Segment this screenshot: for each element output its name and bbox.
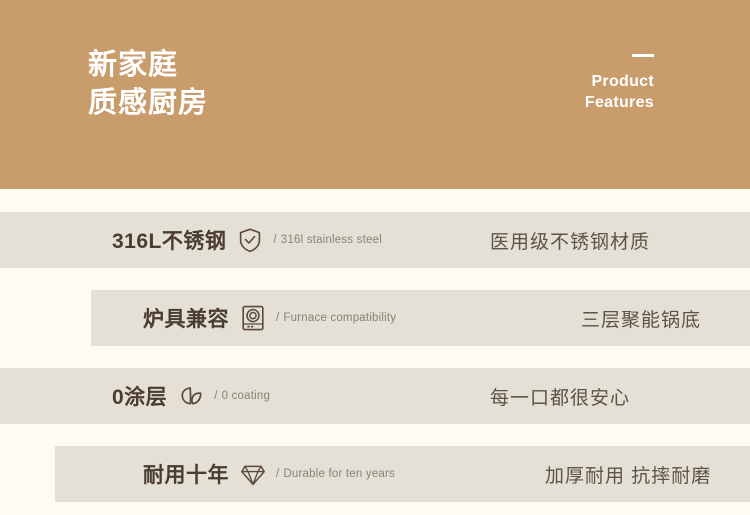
feature-title: 耐用十年 — [143, 459, 229, 489]
feature-separator: / — [276, 468, 279, 480]
feature-description: 加厚耐用 抗摔耐磨 — [545, 446, 711, 502]
feature-label-group: 0涂层 /0 coating — [112, 368, 270, 424]
feature-row: 316L不锈钢 /316l stainless steel 医用级不锈钢材质 — [0, 212, 750, 268]
feature-separator: / — [273, 234, 276, 246]
hero-eyebrow-line-1: Product — [534, 71, 654, 92]
feature-row: 耐用十年 /Durable for ten years 加厚耐用 抗摔耐磨 — [55, 446, 750, 502]
diamond-icon — [238, 459, 268, 489]
feature-label-group: 耐用十年 /Durable for ten years — [143, 446, 395, 502]
feature-description: 医用级不锈钢材质 — [490, 212, 650, 268]
feature-english-text: Durable for ten years — [283, 468, 395, 480]
feature-english-label: /Durable for ten years — [276, 468, 395, 480]
feature-english-label: /0 coating — [214, 390, 270, 402]
feature-row: 0涂层 /0 coating 每一口都很安心 — [0, 368, 750, 424]
hero-eyebrow: Product Features — [534, 54, 654, 113]
feature-english-label: /316l stainless steel — [273, 234, 382, 246]
divider-dash-icon — [632, 54, 654, 57]
feature-english-label: /Furnace compatibility — [276, 312, 396, 324]
feature-title: 316L不锈钢 — [112, 225, 226, 255]
product-features-page: 新家庭 质感厨房 Product Features 316L不锈钢 /316l … — [0, 0, 750, 515]
shield-check-icon — [235, 225, 265, 255]
hero-eyebrow-line-2: Features — [534, 92, 654, 113]
feature-label-group: 炉具兼容 /Furnace compatibility — [143, 290, 396, 346]
feature-separator: / — [214, 390, 217, 402]
hero-title-line-2: 质感厨房 — [88, 84, 208, 122]
leaf-icon — [176, 381, 206, 411]
feature-title: 0涂层 — [112, 381, 167, 411]
feature-separator: / — [276, 312, 279, 324]
feature-title: 炉具兼容 — [143, 303, 229, 333]
feature-english-text: 0 coating — [222, 390, 270, 402]
hero-title-line-1: 新家庭 — [88, 46, 208, 84]
feature-label-group: 316L不锈钢 /316l stainless steel — [112, 212, 382, 268]
stove-icon — [238, 303, 268, 333]
feature-description: 三层聚能锅底 — [581, 290, 701, 346]
feature-english-text: 316l stainless steel — [281, 234, 382, 246]
feature-description: 每一口都很安心 — [490, 368, 630, 424]
feature-english-text: Furnace compatibility — [283, 312, 396, 324]
hero-banner: 新家庭 质感厨房 Product Features — [0, 0, 750, 189]
feature-row: 炉具兼容 /Furnace compatibility 三层聚能锅底 — [91, 290, 750, 346]
hero-title: 新家庭 质感厨房 — [88, 46, 208, 122]
